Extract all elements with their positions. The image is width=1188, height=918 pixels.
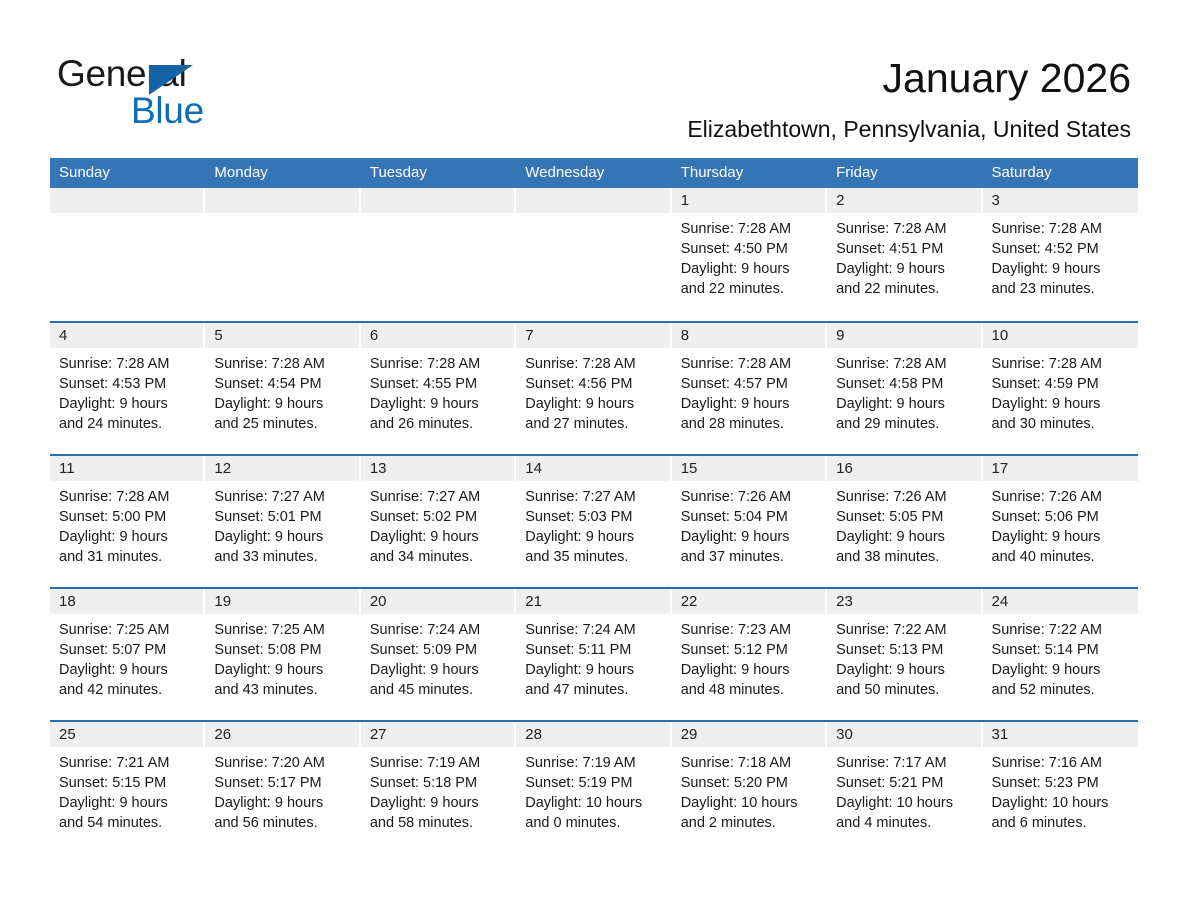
daylight-text-line2: and 23 minutes.: [992, 279, 1129, 299]
sunset-text: Sunset: 5:19 PM: [525, 773, 662, 793]
calendar-day-cell[interactable]: 31Sunrise: 7:16 AMSunset: 5:23 PMDayligh…: [983, 722, 1138, 853]
day-number: 21: [516, 589, 671, 614]
calendar-day-cell[interactable]: 5Sunrise: 7:28 AMSunset: 4:54 PMDaylight…: [205, 323, 360, 454]
day-number: 17: [983, 456, 1138, 481]
calendar-day-cell-empty: [205, 188, 360, 321]
calendar-day-cell[interactable]: 13Sunrise: 7:27 AMSunset: 5:02 PMDayligh…: [361, 456, 516, 587]
daylight-text-line1: Daylight: 9 hours: [214, 527, 351, 547]
day-details: Sunrise: 7:28 AMSunset: 4:57 PMDaylight:…: [672, 348, 827, 434]
calendar-grid: SundayMondayTuesdayWednesdayThursdayFrid…: [50, 158, 1138, 853]
calendar-day-cell[interactable]: 4Sunrise: 7:28 AMSunset: 4:53 PMDaylight…: [50, 323, 205, 454]
daylight-text-line2: and 33 minutes.: [214, 547, 351, 567]
daylight-text-line2: and 22 minutes.: [681, 279, 818, 299]
sunset-text: Sunset: 5:07 PM: [59, 640, 196, 660]
weekday-header-sunday: Sunday: [50, 158, 205, 188]
day-details: Sunrise: 7:28 AMSunset: 4:56 PMDaylight:…: [516, 348, 671, 434]
day-number: 19: [205, 589, 360, 614]
sunset-text: Sunset: 5:02 PM: [370, 507, 507, 527]
day-details: Sunrise: 7:27 AMSunset: 5:01 PMDaylight:…: [205, 481, 360, 567]
daylight-text-line1: Daylight: 9 hours: [59, 527, 196, 547]
day-number: 9: [827, 323, 982, 348]
daylight-text-line1: Daylight: 9 hours: [992, 259, 1129, 279]
day-details: Sunrise: 7:21 AMSunset: 5:15 PMDaylight:…: [50, 747, 205, 833]
daylight-text-line2: and 26 minutes.: [370, 414, 507, 434]
calendar-week-row: 18Sunrise: 7:25 AMSunset: 5:07 PMDayligh…: [50, 587, 1138, 720]
day-number: 28: [516, 722, 671, 747]
sunrise-text: Sunrise: 7:20 AM: [214, 753, 351, 773]
daylight-text-line2: and 40 minutes.: [992, 547, 1129, 567]
daylight-text-line1: Daylight: 9 hours: [681, 660, 818, 680]
day-details: Sunrise: 7:28 AMSunset: 4:52 PMDaylight:…: [983, 213, 1138, 299]
day-details: Sunrise: 7:25 AMSunset: 5:07 PMDaylight:…: [50, 614, 205, 700]
day-details: Sunrise: 7:28 AMSunset: 4:59 PMDaylight:…: [983, 348, 1138, 434]
sunrise-text: Sunrise: 7:25 AM: [214, 620, 351, 640]
sunrise-text: Sunrise: 7:16 AM: [992, 753, 1129, 773]
sunrise-text: Sunrise: 7:25 AM: [59, 620, 196, 640]
day-details: Sunrise: 7:28 AMSunset: 4:55 PMDaylight:…: [361, 348, 516, 434]
calendar-day-cell[interactable]: 18Sunrise: 7:25 AMSunset: 5:07 PMDayligh…: [50, 589, 205, 720]
sunrise-text: Sunrise: 7:28 AM: [59, 354, 196, 374]
calendar-day-cell[interactable]: 6Sunrise: 7:28 AMSunset: 4:55 PMDaylight…: [361, 323, 516, 454]
daylight-text-line2: and 2 minutes.: [681, 813, 818, 833]
sunset-text: Sunset: 4:53 PM: [59, 374, 196, 394]
daylight-text-line2: and 30 minutes.: [992, 414, 1129, 434]
weekday-header-thursday: Thursday: [672, 158, 827, 188]
daylight-text-line1: Daylight: 9 hours: [214, 660, 351, 680]
calendar-week-row: 11Sunrise: 7:28 AMSunset: 5:00 PMDayligh…: [50, 454, 1138, 587]
calendar-day-cell[interactable]: 29Sunrise: 7:18 AMSunset: 5:20 PMDayligh…: [672, 722, 827, 853]
weekday-header-tuesday: Tuesday: [361, 158, 516, 188]
weekday-header-row: SundayMondayTuesdayWednesdayThursdayFrid…: [50, 158, 1138, 188]
day-details: Sunrise: 7:26 AMSunset: 5:04 PMDaylight:…: [672, 481, 827, 567]
calendar-day-cell[interactable]: 21Sunrise: 7:24 AMSunset: 5:11 PMDayligh…: [516, 589, 671, 720]
day-number: 10: [983, 323, 1138, 348]
calendar-day-cell-empty: [361, 188, 516, 321]
daylight-text-line1: Daylight: 9 hours: [59, 793, 196, 813]
daylight-text-line2: and 37 minutes.: [681, 547, 818, 567]
daylight-text-line1: Daylight: 9 hours: [525, 527, 662, 547]
calendar-day-cell[interactable]: 1Sunrise: 7:28 AMSunset: 4:50 PMDaylight…: [672, 188, 827, 321]
daylight-text-line1: Daylight: 9 hours: [836, 660, 973, 680]
day-details: Sunrise: 7:25 AMSunset: 5:08 PMDaylight:…: [205, 614, 360, 700]
sunrise-text: Sunrise: 7:17 AM: [836, 753, 973, 773]
daylight-text-line2: and 24 minutes.: [59, 414, 196, 434]
sunrise-text: Sunrise: 7:28 AM: [214, 354, 351, 374]
sunrise-text: Sunrise: 7:26 AM: [992, 487, 1129, 507]
daylight-text-line2: and 58 minutes.: [370, 813, 507, 833]
daylight-text-line1: Daylight: 10 hours: [992, 793, 1129, 813]
daylight-text-line1: Daylight: 9 hours: [214, 793, 351, 813]
daylight-text-line2: and 34 minutes.: [370, 547, 507, 567]
calendar-day-cell[interactable]: 22Sunrise: 7:23 AMSunset: 5:12 PMDayligh…: [672, 589, 827, 720]
sunset-text: Sunset: 5:15 PM: [59, 773, 196, 793]
day-details: Sunrise: 7:18 AMSunset: 5:20 PMDaylight:…: [672, 747, 827, 833]
page-title: January 2026: [883, 53, 1131, 103]
sunrise-text: Sunrise: 7:24 AM: [525, 620, 662, 640]
daylight-text-line2: and 50 minutes.: [836, 680, 973, 700]
day-details: Sunrise: 7:22 AMSunset: 5:13 PMDaylight:…: [827, 614, 982, 700]
sunrise-text: Sunrise: 7:27 AM: [370, 487, 507, 507]
day-details: Sunrise: 7:16 AMSunset: 5:23 PMDaylight:…: [983, 747, 1138, 833]
sunrise-text: Sunrise: 7:22 AM: [992, 620, 1129, 640]
page-subtitle-location: Elizabethtown, Pennsylvania, United Stat…: [687, 115, 1131, 143]
calendar-day-cell[interactable]: 7Sunrise: 7:28 AMSunset: 4:56 PMDaylight…: [516, 323, 671, 454]
calendar-day-cell[interactable]: 16Sunrise: 7:26 AMSunset: 5:05 PMDayligh…: [827, 456, 982, 587]
sunrise-text: Sunrise: 7:28 AM: [525, 354, 662, 374]
day-number: [361, 188, 516, 213]
day-number: 13: [361, 456, 516, 481]
calendar-day-cell[interactable]: 19Sunrise: 7:25 AMSunset: 5:08 PMDayligh…: [205, 589, 360, 720]
day-number: 15: [672, 456, 827, 481]
calendar-week-row: 25Sunrise: 7:21 AMSunset: 5:15 PMDayligh…: [50, 720, 1138, 853]
daylight-text-line2: and 28 minutes.: [681, 414, 818, 434]
day-details: Sunrise: 7:27 AMSunset: 5:02 PMDaylight:…: [361, 481, 516, 567]
calendar-day-cell-empty: [50, 188, 205, 321]
calendar-day-cell[interactable]: 10Sunrise: 7:28 AMSunset: 4:59 PMDayligh…: [983, 323, 1138, 454]
calendar-day-cell[interactable]: 9Sunrise: 7:28 AMSunset: 4:58 PMDaylight…: [827, 323, 982, 454]
sunrise-text: Sunrise: 7:27 AM: [214, 487, 351, 507]
day-number: 29: [672, 722, 827, 747]
daylight-text-line1: Daylight: 9 hours: [992, 660, 1129, 680]
day-details: Sunrise: 7:24 AMSunset: 5:09 PMDaylight:…: [361, 614, 516, 700]
calendar-day-cell[interactable]: 11Sunrise: 7:28 AMSunset: 5:00 PMDayligh…: [50, 456, 205, 587]
sunset-text: Sunset: 5:17 PM: [214, 773, 351, 793]
daylight-text-line1: Daylight: 9 hours: [992, 394, 1129, 414]
day-number: 25: [50, 722, 205, 747]
day-details: Sunrise: 7:19 AMSunset: 5:18 PMDaylight:…: [361, 747, 516, 833]
sunrise-text: Sunrise: 7:28 AM: [681, 219, 818, 239]
day-number: 30: [827, 722, 982, 747]
sunset-text: Sunset: 5:14 PM: [992, 640, 1129, 660]
daylight-text-line2: and 0 minutes.: [525, 813, 662, 833]
sunrise-text: Sunrise: 7:19 AM: [370, 753, 507, 773]
sunset-text: Sunset: 5:18 PM: [370, 773, 507, 793]
calendar-day-cell[interactable]: 15Sunrise: 7:26 AMSunset: 5:04 PMDayligh…: [672, 456, 827, 587]
sunrise-text: Sunrise: 7:18 AM: [681, 753, 818, 773]
daylight-text-line2: and 45 minutes.: [370, 680, 507, 700]
sunset-text: Sunset: 4:50 PM: [681, 239, 818, 259]
daylight-text-line2: and 48 minutes.: [681, 680, 818, 700]
day-number: 8: [672, 323, 827, 348]
sunset-text: Sunset: 4:57 PM: [681, 374, 818, 394]
day-number: 6: [361, 323, 516, 348]
sunrise-text: Sunrise: 7:28 AM: [370, 354, 507, 374]
calendar-week-row: 1Sunrise: 7:28 AMSunset: 4:50 PMDaylight…: [50, 188, 1138, 321]
calendar-day-cell[interactable]: 2Sunrise: 7:28 AMSunset: 4:51 PMDaylight…: [827, 188, 982, 321]
daylight-text-line1: Daylight: 9 hours: [214, 394, 351, 414]
weekday-header-monday: Monday: [205, 158, 360, 188]
sunrise-text: Sunrise: 7:28 AM: [992, 219, 1129, 239]
day-number: [205, 188, 360, 213]
daylight-text-line1: Daylight: 9 hours: [836, 394, 973, 414]
sunrise-text: Sunrise: 7:21 AM: [59, 753, 196, 773]
day-number: 12: [205, 456, 360, 481]
calendar-day-cell[interactable]: 17Sunrise: 7:26 AMSunset: 5:06 PMDayligh…: [983, 456, 1138, 587]
sunset-text: Sunset: 5:20 PM: [681, 773, 818, 793]
day-number: 3: [983, 188, 1138, 213]
sunset-text: Sunset: 5:04 PM: [681, 507, 818, 527]
daylight-text-line2: and 29 minutes.: [836, 414, 973, 434]
daylight-text-line1: Daylight: 9 hours: [525, 394, 662, 414]
sunset-text: Sunset: 5:21 PM: [836, 773, 973, 793]
calendar-day-cell[interactable]: 24Sunrise: 7:22 AMSunset: 5:14 PMDayligh…: [983, 589, 1138, 720]
day-details: Sunrise: 7:19 AMSunset: 5:19 PMDaylight:…: [516, 747, 671, 833]
day-details: Sunrise: 7:17 AMSunset: 5:21 PMDaylight:…: [827, 747, 982, 833]
daylight-text-line2: and 35 minutes.: [525, 547, 662, 567]
sunrise-text: Sunrise: 7:24 AM: [370, 620, 507, 640]
calendar-day-cell[interactable]: 28Sunrise: 7:19 AMSunset: 5:19 PMDayligh…: [516, 722, 671, 853]
daylight-text-line2: and 4 minutes.: [836, 813, 973, 833]
sunrise-text: Sunrise: 7:28 AM: [59, 487, 196, 507]
day-number: 31: [983, 722, 1138, 747]
sunrise-text: Sunrise: 7:22 AM: [836, 620, 973, 640]
weekday-header-wednesday: Wednesday: [516, 158, 671, 188]
daylight-text-line2: and 25 minutes.: [214, 414, 351, 434]
calendar-day-cell[interactable]: 23Sunrise: 7:22 AMSunset: 5:13 PMDayligh…: [827, 589, 982, 720]
daylight-text-line1: Daylight: 9 hours: [681, 259, 818, 279]
day-details: Sunrise: 7:28 AMSunset: 4:54 PMDaylight:…: [205, 348, 360, 434]
sunrise-text: Sunrise: 7:28 AM: [992, 354, 1129, 374]
daylight-text-line2: and 54 minutes.: [59, 813, 196, 833]
calendar-day-cell[interactable]: 30Sunrise: 7:17 AMSunset: 5:21 PMDayligh…: [827, 722, 982, 853]
daylight-text-line1: Daylight: 9 hours: [992, 527, 1129, 547]
day-details: Sunrise: 7:28 AMSunset: 4:58 PMDaylight:…: [827, 348, 982, 434]
day-details: Sunrise: 7:28 AMSunset: 4:50 PMDaylight:…: [672, 213, 827, 299]
daylight-text-line2: and 47 minutes.: [525, 680, 662, 700]
day-number: 11: [50, 456, 205, 481]
sunset-text: Sunset: 5:11 PM: [525, 640, 662, 660]
day-number: 14: [516, 456, 671, 481]
daylight-text-line2: and 22 minutes.: [836, 279, 973, 299]
day-number: 5: [205, 323, 360, 348]
sunrise-text: Sunrise: 7:26 AM: [836, 487, 973, 507]
day-number: 7: [516, 323, 671, 348]
day-details: Sunrise: 7:28 AMSunset: 5:00 PMDaylight:…: [50, 481, 205, 567]
sunrise-text: Sunrise: 7:27 AM: [525, 487, 662, 507]
daylight-text-line1: Daylight: 9 hours: [836, 259, 973, 279]
sunset-text: Sunset: 4:51 PM: [836, 239, 973, 259]
sunrise-text: Sunrise: 7:28 AM: [836, 219, 973, 239]
day-number: 23: [827, 589, 982, 614]
calendar-day-cell[interactable]: 3Sunrise: 7:28 AMSunset: 4:52 PMDaylight…: [983, 188, 1138, 321]
daylight-text-line1: Daylight: 10 hours: [525, 793, 662, 813]
calendar-week-row: 4Sunrise: 7:28 AMSunset: 4:53 PMDaylight…: [50, 321, 1138, 454]
day-number: 20: [361, 589, 516, 614]
daylight-text-line2: and 52 minutes.: [992, 680, 1129, 700]
day-number: 1: [672, 188, 827, 213]
day-details: Sunrise: 7:28 AMSunset: 4:53 PMDaylight:…: [50, 348, 205, 434]
day-details: Sunrise: 7:26 AMSunset: 5:05 PMDaylight:…: [827, 481, 982, 567]
calendar-day-cell-empty: [516, 188, 671, 321]
day-details: Sunrise: 7:20 AMSunset: 5:17 PMDaylight:…: [205, 747, 360, 833]
daylight-text-line2: and 43 minutes.: [214, 680, 351, 700]
day-number: [50, 188, 205, 213]
generalblue-logo[interactable]: General Blue: [57, 52, 357, 136]
day-details: Sunrise: 7:22 AMSunset: 5:14 PMDaylight:…: [983, 614, 1138, 700]
day-details: Sunrise: 7:24 AMSunset: 5:11 PMDaylight:…: [516, 614, 671, 700]
sunrise-text: Sunrise: 7:23 AM: [681, 620, 818, 640]
sunrise-text: Sunrise: 7:28 AM: [681, 354, 818, 374]
sunset-text: Sunset: 5:23 PM: [992, 773, 1129, 793]
sunset-text: Sunset: 4:58 PM: [836, 374, 973, 394]
sunset-text: Sunset: 5:06 PM: [992, 507, 1129, 527]
page-header: General Blue January 2026 Elizabethtown,…: [0, 0, 1188, 152]
day-details: Sunrise: 7:28 AMSunset: 4:51 PMDaylight:…: [827, 213, 982, 299]
daylight-text-line1: Daylight: 9 hours: [59, 394, 196, 414]
daylight-text-line2: and 6 minutes.: [992, 813, 1129, 833]
daylight-text-line2: and 27 minutes.: [525, 414, 662, 434]
daylight-text-line1: Daylight: 9 hours: [836, 527, 973, 547]
calendar-day-cell[interactable]: 27Sunrise: 7:19 AMSunset: 5:18 PMDayligh…: [361, 722, 516, 853]
sunset-text: Sunset: 4:52 PM: [992, 239, 1129, 259]
sunset-text: Sunset: 4:55 PM: [370, 374, 507, 394]
sunset-text: Sunset: 5:13 PM: [836, 640, 973, 660]
daylight-text-line1: Daylight: 9 hours: [525, 660, 662, 680]
day-number: [516, 188, 671, 213]
daylight-text-line1: Daylight: 9 hours: [59, 660, 196, 680]
day-details: Sunrise: 7:23 AMSunset: 5:12 PMDaylight:…: [672, 614, 827, 700]
day-number: 26: [205, 722, 360, 747]
sunset-text: Sunset: 5:03 PM: [525, 507, 662, 527]
sunset-text: Sunset: 5:01 PM: [214, 507, 351, 527]
daylight-text-line1: Daylight: 10 hours: [681, 793, 818, 813]
day-number: 27: [361, 722, 516, 747]
daylight-text-line1: Daylight: 9 hours: [681, 527, 818, 547]
sunrise-text: Sunrise: 7:19 AM: [525, 753, 662, 773]
sunset-text: Sunset: 5:09 PM: [370, 640, 507, 660]
daylight-text-line2: and 42 minutes.: [59, 680, 196, 700]
day-number: 16: [827, 456, 982, 481]
daylight-text-line1: Daylight: 9 hours: [370, 527, 507, 547]
logo-text-blue: Blue: [131, 89, 204, 133]
daylight-text-line1: Daylight: 9 hours: [370, 394, 507, 414]
weekday-header-friday: Friday: [827, 158, 982, 188]
calendar-weeks: 1Sunrise: 7:28 AMSunset: 4:50 PMDaylight…: [50, 188, 1138, 853]
calendar-page: General Blue January 2026 Elizabethtown,…: [0, 0, 1188, 918]
day-number: 2: [827, 188, 982, 213]
sunset-text: Sunset: 4:54 PM: [214, 374, 351, 394]
calendar-day-cell[interactable]: 12Sunrise: 7:27 AMSunset: 5:01 PMDayligh…: [205, 456, 360, 587]
daylight-text-line1: Daylight: 9 hours: [370, 793, 507, 813]
daylight-text-line1: Daylight: 10 hours: [836, 793, 973, 813]
day-details: Sunrise: 7:27 AMSunset: 5:03 PMDaylight:…: [516, 481, 671, 567]
daylight-text-line2: and 56 minutes.: [214, 813, 351, 833]
calendar-day-cell[interactable]: 25Sunrise: 7:21 AMSunset: 5:15 PMDayligh…: [50, 722, 205, 853]
daylight-text-line1: Daylight: 9 hours: [681, 394, 818, 414]
sunset-text: Sunset: 4:59 PM: [992, 374, 1129, 394]
calendar-day-cell[interactable]: 26Sunrise: 7:20 AMSunset: 5:17 PMDayligh…: [205, 722, 360, 853]
sunset-text: Sunset: 5:12 PM: [681, 640, 818, 660]
sunset-text: Sunset: 5:05 PM: [836, 507, 973, 527]
sunrise-text: Sunrise: 7:28 AM: [836, 354, 973, 374]
sunset-text: Sunset: 5:00 PM: [59, 507, 196, 527]
day-number: 4: [50, 323, 205, 348]
calendar-day-cell[interactable]: 20Sunrise: 7:24 AMSunset: 5:09 PMDayligh…: [361, 589, 516, 720]
calendar-day-cell[interactable]: 14Sunrise: 7:27 AMSunset: 5:03 PMDayligh…: [516, 456, 671, 587]
daylight-text-line1: Daylight: 9 hours: [370, 660, 507, 680]
calendar-day-cell[interactable]: 8Sunrise: 7:28 AMSunset: 4:57 PMDaylight…: [672, 323, 827, 454]
day-number: 24: [983, 589, 1138, 614]
day-number: 22: [672, 589, 827, 614]
sunset-text: Sunset: 5:08 PM: [214, 640, 351, 660]
weekday-header-saturday: Saturday: [983, 158, 1138, 188]
sunset-text: Sunset: 4:56 PM: [525, 374, 662, 394]
sunrise-text: Sunrise: 7:26 AM: [681, 487, 818, 507]
daylight-text-line2: and 31 minutes.: [59, 547, 196, 567]
day-number: 18: [50, 589, 205, 614]
daylight-text-line2: and 38 minutes.: [836, 547, 973, 567]
day-details: Sunrise: 7:26 AMSunset: 5:06 PMDaylight:…: [983, 481, 1138, 567]
